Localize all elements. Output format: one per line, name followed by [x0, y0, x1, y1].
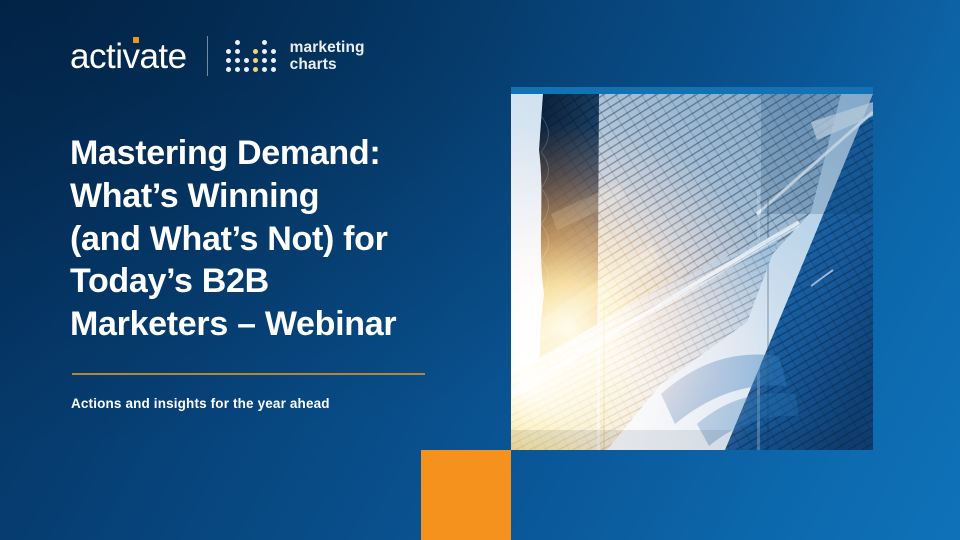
- orange-accent-square: [421, 450, 511, 540]
- page-title: Mastering Demand: What’s Winning (and Wh…: [70, 132, 500, 346]
- title-line-2: What’s Winning: [70, 175, 500, 218]
- brand-line-2: charts: [290, 56, 365, 73]
- brand-logo-lockup[interactable]: activate marketing charts: [70, 36, 365, 76]
- title-line-1: Mastering Demand:: [70, 132, 500, 175]
- title-slide: activate marketing charts Mastering Dema…: [0, 0, 960, 540]
- hero-image-top-band: [511, 87, 873, 94]
- activate-wordmark: activate: [70, 39, 187, 74]
- hero-image: Modern glass skyscraper facade at golden…: [511, 94, 873, 450]
- title-line-5: Marketers – Webinar: [70, 303, 500, 346]
- headline-block: Mastering Demand: What’s Winning (and Wh…: [70, 132, 500, 346]
- brand-line-1: marketing: [290, 39, 365, 56]
- activate-wordmark-text: activate: [70, 37, 187, 76]
- hero-image-frame: Modern glass skyscraper facade at golden…: [511, 87, 873, 450]
- title-divider-rule: [72, 373, 425, 375]
- subtitle: Actions and insights for the year ahead: [71, 396, 491, 411]
- marketing-charts-brandname: marketing charts: [290, 39, 365, 74]
- logo-divider: [207, 36, 208, 76]
- title-line-3: (and What’s Not) for: [70, 218, 500, 261]
- marketing-charts-dot-matrix-icon: [226, 40, 276, 72]
- title-line-4: Today’s B2B: [70, 260, 500, 303]
- activate-i-dot-icon: [133, 37, 139, 43]
